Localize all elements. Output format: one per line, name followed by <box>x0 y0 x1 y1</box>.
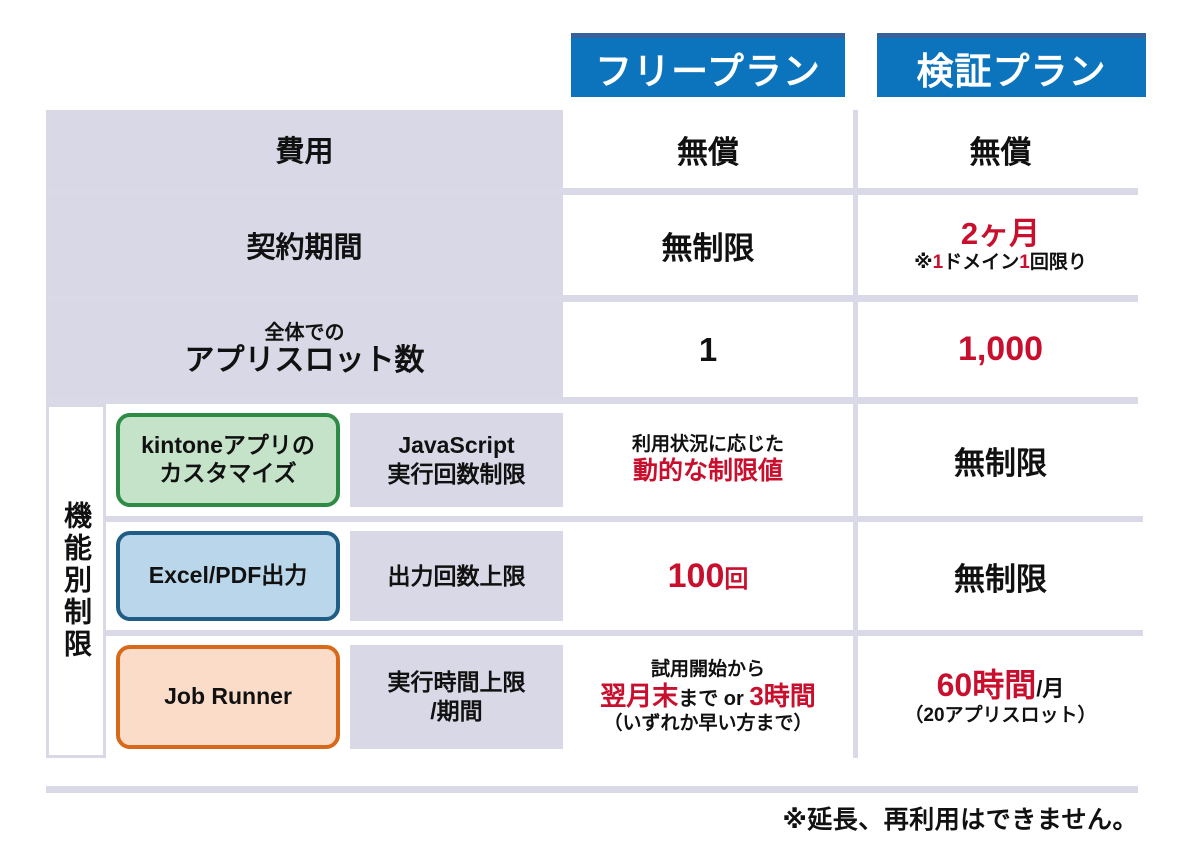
cell-app-slots-free-text: 1 <box>699 331 717 369</box>
cell-excel-trial: 無制限 <box>858 522 1143 630</box>
header-spacer <box>46 20 563 110</box>
column-header-trial-plan: 検証プラン <box>877 33 1146 97</box>
cell-kintone-trial-text: 無制限 <box>954 438 1047 483</box>
cell-fee-trial: 無償 <box>858 110 1143 188</box>
trial-hours-num: 60時間 <box>937 667 1037 703</box>
feature-chip-job-runner-text: Job Runner <box>164 683 292 711</box>
column-header-free-plan: フリープラン <box>571 33 845 97</box>
table-header-row: フリープラン 検証プラン <box>46 20 1138 110</box>
cell-job-runner-free-line1: 試用開始から <box>600 659 816 682</box>
vertical-label-feature-restrictions: 機能別制限 <box>46 404 106 758</box>
cell-fee-trial-text: 無償 <box>970 127 1032 172</box>
subcell-wrapper-kintone: JavaScript 実行回数制限 <box>350 404 563 516</box>
footnote-text: ※延長、再利用はできません。 <box>782 800 1138 836</box>
row-label-app-slots-stack: 全体での アプリスロット数 <box>185 322 425 378</box>
cell-excel-free-num: 100 <box>668 557 725 595</box>
cell-kintone-free-line2: 動的な制限値 <box>632 456 784 486</box>
row-label-app-slots-big: アプリスロット数 <box>185 344 425 378</box>
feature-metric-output-count-limit: 出力回数上限 <box>350 531 563 621</box>
cell-fee-free: 無償 <box>563 110 853 188</box>
free-line2-red-a: 翌月末 <box>600 681 678 711</box>
cell-excel-trial-text: 無制限 <box>954 554 1047 599</box>
cell-job-runner-trial-stack: 60時間/月 （20アプリスロット） <box>904 666 1096 727</box>
feature-metric-text: JavaScript 実行回数制限 <box>388 431 526 489</box>
cell-term-trial-note: ※1ドメイン1回限り <box>914 252 1087 275</box>
row-label-contract-term: 契約期間 <box>46 195 563 295</box>
feature-row-job-runner: Job Runner 実行時間上限 /期間 試用開始から <box>106 636 1143 758</box>
feature-metric-javascript-limit: JavaScript 実行回数制限 <box>350 413 563 507</box>
feature-rows-wrapper: kintoneアプリの カスタマイズ JavaScript 実行回数制限 <box>106 404 1143 758</box>
metric-line-1: JavaScript <box>388 431 526 460</box>
cell-app-slots-free: 1 <box>563 302 853 397</box>
chip-line-1: kintoneアプリの <box>141 432 315 460</box>
table-row-fee: 費用 無償 無償 <box>46 110 1138 188</box>
cell-kintone-free-stack: 利用状況に応じた 動的な制限値 <box>632 434 784 487</box>
row-label-app-slots-small: 全体での <box>185 322 425 344</box>
pricing-comparison-table: フリープラン 検証プラン 費用 無償 無償 契約期間 無制限 2 <box>0 0 1184 860</box>
free-line2-red-b: 3時間 <box>749 681 815 711</box>
feature-chip-kintone-customize: kintoneアプリの カスタマイズ <box>116 413 340 507</box>
metric-line-2: /期間 <box>388 697 526 726</box>
table-row-contract-term: 契約期間 無制限 2ヶ月 ※1ドメイン1回限り <box>46 195 1138 295</box>
cell-kintone-trial: 無制限 <box>858 404 1143 516</box>
row-separator <box>46 188 1138 195</box>
cell-job-runner-free: 試用開始から 翌月末まで or 3時間 （いずれか早い方まで） <box>563 636 853 758</box>
cell-excel-free-unit: 回 <box>724 566 748 593</box>
cell-app-slots-trial: 1,000 <box>858 302 1143 397</box>
cell-job-runner-free-line2: 翌月末まで or 3時間 <box>600 681 816 712</box>
free-line2-mid: まで or <box>678 688 749 710</box>
cell-job-runner-free-line3: （いずれか早い方まで） <box>600 713 816 736</box>
cell-term-free: 無制限 <box>563 195 853 295</box>
feature-restrictions-section: 機能別制限 kintoneアプリの カスタマイズ <box>46 404 1138 758</box>
note-num-domain: 1 <box>933 252 944 273</box>
note-num-times: 1 <box>1019 252 1030 273</box>
note-mark: ※ <box>914 252 932 273</box>
metric-line-1: 実行時間上限 <box>388 668 526 697</box>
cell-term-trial: 2ヶ月 ※1ドメイン1回限り <box>858 195 1143 295</box>
feature-metric-text: 出力回数上限 <box>388 562 526 591</box>
subcell-wrapper-excel: 出力回数上限 <box>350 522 563 630</box>
row-separator <box>46 397 1138 404</box>
trial-line-1: 60時間/月 <box>904 666 1096 704</box>
cell-job-runner-trial: 60時間/月 （20アプリスロット） <box>858 636 1143 758</box>
cell-fee-free-text: 無償 <box>677 127 739 172</box>
feature-chip-job-runner: Job Runner <box>116 645 340 749</box>
chip-wrapper-kintone: kintoneアプリの カスタマイズ <box>106 404 350 516</box>
feature-chip-kintone-text: kintoneアプリの カスタマイズ <box>141 432 315 487</box>
cell-excel-free-stack: 100回 <box>668 557 749 596</box>
row-label-app-slots: 全体での アプリスロット数 <box>46 302 563 397</box>
cell-kintone-free-line1: 利用状況に応じた <box>632 434 784 457</box>
cell-excel-free: 100回 <box>563 522 853 630</box>
feature-metric-runtime-limit: 実行時間上限 /期間 <box>350 645 563 749</box>
chip-wrapper-excel: Excel/PDF出力 <box>106 522 350 630</box>
comparison-grid: フリープラン 検証プラン 費用 無償 無償 契約期間 無制限 2 <box>46 20 1138 758</box>
cell-term-free-text: 無制限 <box>662 223 755 268</box>
feature-metric-text: 実行時間上限 /期間 <box>388 668 526 726</box>
cell-term-trial-main: 2ヶ月 <box>914 215 1087 252</box>
row-label-fee: 費用 <box>46 110 563 188</box>
trial-line-2: （20アプリスロット） <box>904 705 1096 728</box>
cell-kintone-free: 利用状況に応じた 動的な制限値 <box>563 404 853 516</box>
bottom-separator <box>46 786 1138 793</box>
vertical-label-wrapper: 機能別制限 <box>46 404 106 758</box>
subcell-wrapper-job-runner: 実行時間上限 /期間 <box>350 636 563 758</box>
trial-hours-unit: /月 <box>1036 676 1064 701</box>
cell-term-trial-stack: 2ヶ月 ※1ドメイン1回限り <box>914 215 1087 275</box>
feature-row-kintone-customize: kintoneアプリの カスタマイズ JavaScript 実行回数制限 <box>106 404 1143 516</box>
metric-line-2: 実行回数制限 <box>388 460 526 489</box>
feature-chip-excel-pdf-output: Excel/PDF出力 <box>116 531 340 621</box>
table-row-app-slots: 全体での アプリスロット数 1 1,000 <box>46 302 1138 397</box>
row-separator <box>46 295 1138 302</box>
chip-wrapper-job-runner: Job Runner <box>106 636 350 758</box>
chip-line-2: カスタマイズ <box>141 460 315 488</box>
note-times-word: 回限り <box>1030 252 1087 273</box>
feature-row-excel-pdf-output: Excel/PDF出力 出力回数上限 100回 無制限 <box>106 522 1143 630</box>
note-domain-word: ドメイン <box>943 252 1019 273</box>
feature-chip-excel-text: Excel/PDF出力 <box>149 562 308 590</box>
cell-app-slots-trial-text: 1,000 <box>958 330 1043 369</box>
header-column-gap <box>853 20 869 110</box>
cell-job-runner-free-stack: 試用開始から 翌月末まで or 3時間 （いずれか早い方まで） <box>600 659 816 736</box>
